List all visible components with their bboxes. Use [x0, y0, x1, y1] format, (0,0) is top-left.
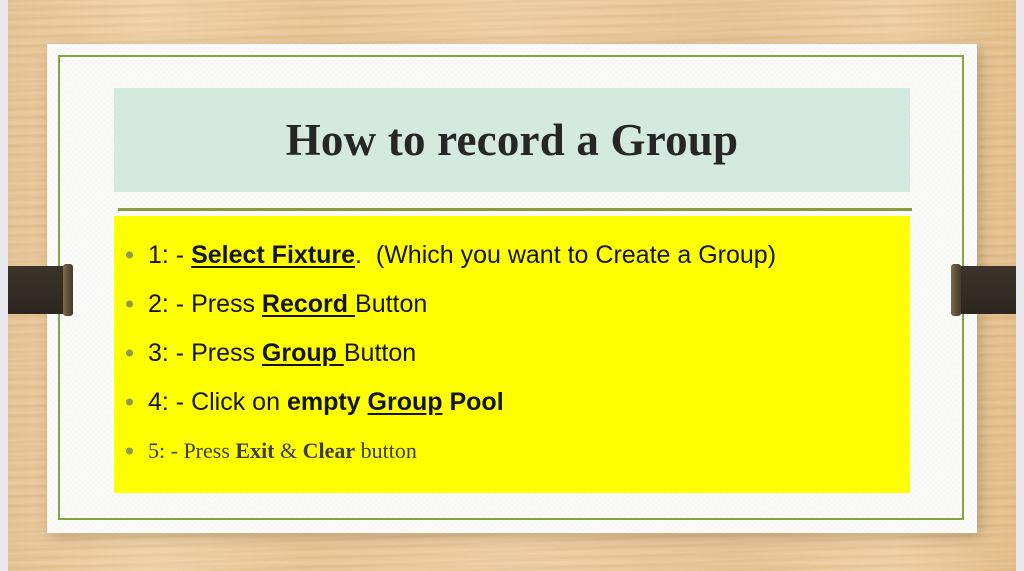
list-item: 1: - Select Fixture. (Which you want to … — [114, 230, 910, 279]
text-segment: Group — [262, 339, 344, 367]
text-segment: Select Fixture — [191, 241, 355, 269]
frame-clip-right — [958, 266, 1016, 314]
list-item-label: 1: - Select Fixture. (Which you want to … — [114, 241, 776, 269]
text-segment: empty — [287, 388, 368, 416]
text-segment: Group — [368, 388, 443, 416]
list-item-label: 4: - Click on empty Group Pool — [114, 388, 504, 416]
list-item: 3: - Press Group Button — [114, 328, 910, 377]
page-title: How to record a Group — [114, 114, 910, 166]
slide-canvas: How to record a Group 1: - Select Fixtur… — [0, 0, 1024, 571]
text-segment: Button — [355, 290, 427, 318]
list-item: 5: - Press Exit & Clear button — [114, 426, 910, 475]
text-segment: Button — [344, 339, 416, 367]
text-segment: . (Which you want to Create a Group) — [355, 241, 776, 269]
text-segment: & — [275, 438, 303, 463]
list-item-label: 3: - Press Group Button — [114, 339, 416, 367]
frame-clip-left — [8, 266, 66, 314]
steps-list: 1: - Select Fixture. (Which you want to … — [114, 216, 910, 475]
bullet-dot-icon — [126, 300, 133, 307]
frame-clip-right-cap — [951, 264, 961, 316]
text-segment: button — [355, 438, 417, 463]
text-segment: 3: - Press — [148, 339, 262, 367]
title-divider-rule — [118, 208, 912, 211]
list-item: 2: - Press Record Button — [114, 279, 910, 328]
bullet-dot-icon — [126, 447, 133, 454]
text-segment: Record — [262, 290, 355, 318]
slide-content: How to record a Group 1: - Select Fixtur… — [114, 88, 910, 493]
bullet-dot-icon — [126, 398, 133, 405]
list-item-label: 2: - Press Record Button — [114, 290, 427, 318]
text-segment: Clear — [303, 438, 356, 463]
text-segment: Pool — [443, 388, 504, 416]
text-segment: Exit — [235, 438, 274, 463]
frame-clip-left-cap — [63, 264, 73, 316]
bullet-dot-icon — [126, 251, 133, 258]
text-segment: 1: - — [148, 241, 191, 269]
list-item: 4: - Click on empty Group Pool — [114, 377, 910, 426]
text-segment: 2: - Press — [148, 290, 262, 318]
text-segment: 4: - Click on — [148, 388, 287, 416]
body-highlight-block: 1: - Select Fixture. (Which you want to … — [114, 216, 910, 493]
list-item-label: 5: - Press Exit & Clear button — [114, 438, 417, 464]
bullet-dot-icon — [126, 349, 133, 356]
text-segment: 5: - Press — [148, 438, 235, 463]
